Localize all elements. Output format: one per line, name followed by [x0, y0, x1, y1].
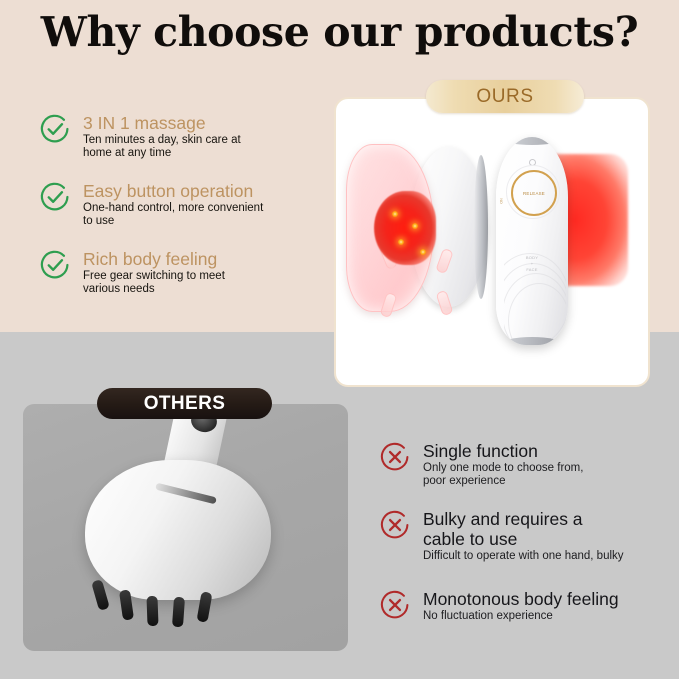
check-circle-icon — [38, 180, 72, 214]
feature-title: Monotonous body feeling — [423, 589, 619, 609]
list-item: Easy button operation One-hand control, … — [38, 180, 263, 229]
device-left-rim — [474, 155, 488, 299]
feature-title: Single function — [423, 441, 583, 461]
x-circle-icon — [378, 588, 412, 622]
infographic-page: Why choose our products? 3 IN 1 massage … — [0, 0, 679, 679]
feature-desc: Difficult to operate with one hand, bulk… — [423, 550, 624, 563]
mode-label-body: BODY — [496, 255, 568, 260]
cup-prong — [380, 292, 398, 318]
massager-prong — [91, 579, 110, 611]
led-light — [420, 249, 426, 255]
list-item: Single function Only one mode to choose … — [378, 440, 583, 489]
release-button-label: RELEASE — [523, 191, 545, 196]
list-item: Bulky and requires a cable to use Diffic… — [378, 508, 624, 563]
list-item: 3 IN 1 massage Ten minutes a day, skin c… — [38, 112, 241, 161]
feature-title: 3 IN 1 massage — [83, 113, 241, 133]
massager-prong — [172, 597, 185, 628]
check-circle-icon — [38, 248, 72, 282]
red-light-glow — [374, 191, 436, 265]
power-label: ON — [500, 198, 504, 203]
feature-desc: Ten minutes a day, skin care at home at … — [83, 134, 241, 161]
page-title: Why choose our products? — [0, 8, 679, 56]
ours-badge-label: OURS — [476, 86, 533, 108]
feature-desc: Free gear switching to meet various need… — [83, 270, 225, 297]
list-item: Monotonous body feeling No fluctuation e… — [378, 588, 619, 623]
others-badge-label: OTHERS — [144, 393, 226, 415]
others-product-image — [23, 404, 348, 651]
mode-label-face: FACE — [496, 267, 568, 272]
feature-desc: One-hand control, more convenient to use — [83, 202, 263, 229]
led-light — [392, 211, 398, 217]
feature-title: Rich body feeling — [83, 249, 225, 269]
massager-head — [85, 460, 271, 600]
feature-title: Easy button operation — [83, 181, 263, 201]
x-circle-icon — [378, 508, 412, 542]
others-badge: OTHERS — [97, 388, 272, 419]
device-right-handheld: RELEASE ON BODY + FACE — [496, 137, 568, 345]
check-circle-icon — [38, 112, 72, 146]
feature-desc: Only one mode to choose from, poor exper… — [423, 462, 583, 489]
led-light — [412, 223, 418, 229]
massager-prong — [146, 596, 158, 626]
x-circle-icon — [378, 440, 412, 474]
list-item: Rich body feeling Free gear switching to… — [38, 248, 225, 297]
ours-badge: OURS — [426, 80, 584, 113]
device-right-top-rim — [502, 137, 562, 145]
release-button[interactable]: RELEASE — [511, 170, 557, 216]
led-light — [398, 239, 404, 245]
ours-product-image: RELEASE ON BODY + FACE — [334, 97, 650, 387]
feature-desc: No fluctuation experience — [423, 610, 619, 623]
feature-title: Bulky and requires a cable to use — [423, 509, 624, 549]
mode-label-separator: + — [496, 261, 568, 266]
